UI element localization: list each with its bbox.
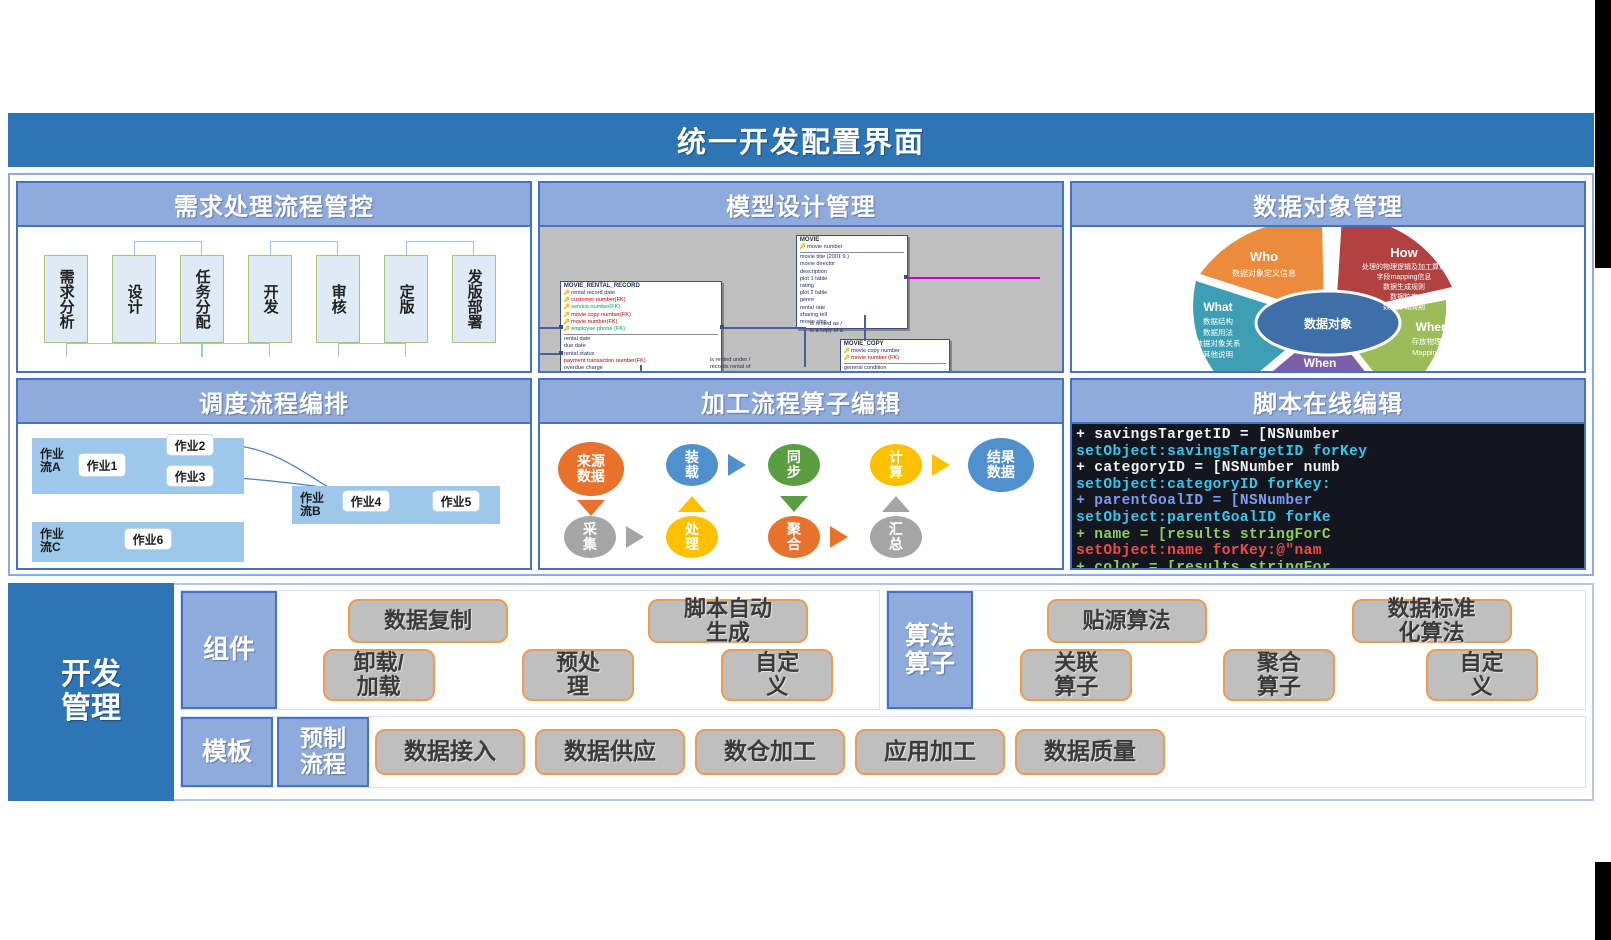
job-label: 作业1 (87, 457, 118, 474)
arrow-down-icon (780, 496, 808, 512)
flow-step-label: 开发 (262, 284, 277, 314)
er-relationship-line (722, 327, 806, 329)
job-label: 作业3 (175, 468, 206, 485)
chip-data-standardization-algorithm[interactable]: 数据标准 化算法 (1352, 599, 1512, 643)
flow-step-label: 定版 (398, 284, 413, 314)
chip-script-auto-generation[interactable]: 脚本自动 生成 (648, 599, 808, 643)
code-line: + savingsTargetID = [NSNumber (1076, 427, 1584, 444)
flow-step-4[interactable]: 开发 (248, 255, 292, 343)
operator-label: 处 理 (685, 522, 699, 551)
category-template[interactable]: 模板 (181, 717, 273, 787)
schedule-job-6[interactable]: 作业6 (124, 528, 172, 550)
panel-body: 需求分析 设计 任务分配 开发 审核 定版 发版部署 (18, 227, 530, 371)
pie-svg: 数据对象 Who 数据对象定义信息 What 数据结构 数据用法 数据对象关系 (1088, 227, 1568, 371)
panel-header: 需求处理流程管控 (18, 183, 530, 227)
panel-body: 来源 数据 采 集 装 载 处 理 同 步 聚 合 (540, 424, 1062, 568)
requirement-flow-diagram: 需求分析 设计 任务分配 开发 审核 定版 发版部署 (18, 227, 530, 371)
panel-title: 加工流程算子编辑 (701, 384, 901, 419)
operator-label: 采 集 (583, 522, 597, 551)
flow-step-label: 任务分配 (194, 269, 209, 329)
category-components[interactable]: 组件 (181, 591, 277, 709)
arrow-up-icon (678, 496, 706, 512)
flow-connector (270, 241, 338, 255)
flow-step-label: 发版部署 (466, 269, 481, 329)
er-row: rating (800, 283, 904, 290)
er-row: payment transaction number(FK) (564, 358, 718, 365)
chip-join-operator[interactable]: 关联 算子 (1020, 649, 1132, 701)
panel-header: 数据对象管理 (1072, 183, 1584, 227)
arrow-right-icon (626, 526, 644, 548)
er-note-line: records rental of (710, 364, 750, 370)
schedule-job-5[interactable]: 作业5 (432, 490, 480, 512)
er-row: movie number (800, 244, 904, 251)
upper-panels-frame: 需求处理流程管控 需求分析 设计 任务分配 开发 审核 定版 发版部署 (8, 173, 1594, 576)
operator-label: 同 步 (787, 450, 801, 479)
panel-title: 模型设计管理 (726, 187, 876, 222)
panel-body: 作业流A 作业1 作业2 作业3 作业流B 作业4 作业5 作业流C (18, 424, 530, 568)
flow-step-1[interactable]: 需求分析 (44, 255, 88, 343)
er-row: movie title (2001 9.) (800, 254, 904, 261)
flow-connector (66, 343, 202, 357)
components-and-algorithms-row: 组件 数据复制 脚本自动 生成 卸载/ 加载 预处 理 自定 义 (180, 590, 1586, 710)
operator-compute[interactable]: 计 算 (870, 444, 922, 486)
operator-label: 汇 总 (889, 522, 903, 551)
pie-center-label: 数据对象 (1304, 316, 1352, 331)
pie-sublabel: Mapping关系 (1412, 347, 1456, 357)
development-management-title: 开发 管理 (61, 658, 121, 727)
code-line: setObject:name forKey:@"nam (1076, 543, 1584, 560)
panel-title: 脚本在线编辑 (1253, 384, 1403, 419)
schedule-group-label: 作业流B (300, 492, 324, 517)
chip-warehouse-processing[interactable]: 数仓加工 (695, 729, 845, 775)
panel-body: + savingsTargetID = [NSNumber setObject:… (1072, 424, 1584, 568)
pie-label-what: What (1203, 300, 1232, 314)
pie-sublabel: 数据生成规则 (1383, 282, 1425, 291)
code-editor[interactable]: + savingsTargetID = [NSNumber setObject:… (1072, 424, 1584, 568)
pie-sublabel: 数据用法 (1203, 327, 1233, 337)
operator-label: 来源 数据 (577, 454, 605, 483)
er-relationship-line-highlight (908, 277, 1040, 279)
er-endpoint (559, 351, 563, 355)
operator-flow-diagram: 来源 数据 采 集 装 载 处 理 同 步 聚 合 (540, 424, 1062, 568)
schedule-job-3[interactable]: 作业3 (166, 465, 214, 487)
chip-data-supply[interactable]: 数据供应 (535, 729, 685, 775)
code-line: setObject:savingsTargetID forKey (1076, 444, 1584, 461)
er-table-title: MOVIE_COPY (841, 340, 949, 347)
operator-load[interactable]: 装 载 (666, 444, 718, 486)
er-table-title: MOVIE (797, 236, 907, 243)
er-divider (844, 363, 946, 364)
arrow-down-icon (577, 500, 605, 516)
flow-connector (338, 343, 406, 357)
operator-label: 结果 数据 (987, 450, 1015, 479)
er-row: genre (800, 297, 904, 304)
flow-connector (406, 241, 474, 255)
flow-step-6[interactable]: 定版 (384, 255, 428, 343)
flow-step-label: 审核 (330, 284, 345, 314)
er-note: is rented under / records rental of (710, 357, 750, 371)
pie-label-who: Who (1250, 249, 1278, 264)
er-relationship-line (640, 365, 642, 371)
job-label: 作业2 (175, 437, 206, 454)
er-row: movie copy number(FK) (564, 312, 718, 319)
schedule-job-4[interactable]: 作业4 (342, 490, 390, 512)
schedule-job-2[interactable]: 作业2 (166, 434, 214, 456)
er-row: rental rate (800, 305, 904, 312)
operator-label: 装 载 (685, 450, 699, 479)
er-note-line: is rented as / (810, 321, 842, 327)
panel-title: 数据对象管理 (1253, 187, 1403, 222)
er-relationship-line (864, 315, 866, 341)
chip-data-quality[interactable]: 数据质量 (1015, 729, 1165, 775)
arrow-right-icon (728, 454, 746, 476)
development-management-title-tile: 开发 管理 (8, 583, 174, 801)
er-row: general condition (844, 365, 946, 371)
title-line-1: 开发 (61, 658, 121, 691)
flow-step-7[interactable]: 发版部署 (452, 255, 496, 343)
panel-title: 需求处理流程管控 (174, 187, 374, 222)
flow-step-3[interactable]: 任务分配 (180, 255, 224, 343)
components-block: 组件 数据复制 脚本自动 生成 卸载/ 加载 预处 理 自定 义 (180, 590, 880, 710)
operator-result[interactable]: 结果 数据 (968, 438, 1034, 492)
er-divider (564, 334, 718, 335)
pie-sublabel: 数据对象关系 (1196, 338, 1241, 348)
category-algorithm-operators[interactable]: 算法 算子 (887, 591, 973, 709)
pie-sublabel: 存放物理位置 (1412, 336, 1457, 346)
page-title-bar: 统一开发配置界面 (8, 113, 1594, 167)
flow-connector (134, 241, 202, 255)
chip-unload-load[interactable]: 卸载/ 加载 (323, 649, 435, 701)
er-divider (800, 252, 904, 253)
er-note-line: is rented under / (710, 357, 750, 363)
five-w-one-h-chart: 数据对象 Who 数据对象定义信息 What 数据结构 数据用法 数据对象关系 (1072, 227, 1584, 371)
schedule-group-label: 作业流C (40, 528, 64, 553)
templates-row: 模板 预制 流程 数据接入 数据供应 数仓加工 应用加工 数据质量 (180, 716, 1586, 788)
arrow-right-icon (932, 454, 950, 476)
page-edge-bottom (1595, 862, 1611, 940)
code-line: + color = [results stringFor (1076, 560, 1584, 568)
code-line: setObject:categoryID forKey: (1076, 477, 1584, 494)
flow-step-label: 设计 (126, 284, 141, 314)
pie-sublabel: 数据存储周期 (1383, 302, 1425, 311)
panel-header: 加工流程算子编辑 (540, 380, 1062, 424)
schedule-diagram: 作业流A 作业1 作业2 作业3 作业流B 作业4 作业5 作业流C (18, 424, 530, 568)
chip-custom-component[interactable]: 自定 义 (721, 649, 833, 701)
panel-operator-editor[interactable]: 加工流程算子编辑 来源 数据 采 集 装 载 处 理 同 步 (538, 378, 1064, 570)
panel-data-object[interactable]: 数据对象管理 (1070, 181, 1586, 373)
er-row: plot 1 table (800, 276, 904, 283)
er-endpoint (720, 325, 724, 329)
er-row: sharing tell (800, 312, 904, 319)
chip-preprocess[interactable]: 预处 理 (522, 649, 634, 701)
job-label: 作业5 (441, 493, 472, 510)
panel-body: MOVIE_RENTAL_RECORD rental record date c… (540, 227, 1062, 371)
chip-data-ingestion[interactable]: 数据接入 (375, 729, 525, 775)
panel-model-design[interactable]: 模型设计管理 MOVIE_RENTAL_RECORD rental record… (538, 181, 1064, 373)
pie-sublabel: 字段mapping信息 (1377, 272, 1432, 281)
chip-application-processing[interactable]: 应用加工 (855, 729, 1005, 775)
algorithms-block: 算法 算子 贴源算法 数据标准 化算法 关联 算子 聚合 算子 自定 义 (886, 590, 1586, 710)
pie-label-when: When (1304, 356, 1337, 370)
er-row: service number(FK) (564, 304, 718, 311)
panel-header: 调度流程编排 (18, 380, 530, 424)
category-prebuilt-flow[interactable]: 预制 流程 (277, 717, 369, 787)
panel-title: 调度流程编排 (199, 384, 349, 419)
development-management-section: 开发 管理 组件 数据复制 脚本自动 生成 卸载/ (8, 583, 1594, 801)
er-row: employee phone (FK) (564, 326, 718, 333)
operator-source[interactable]: 来源 数据 (558, 442, 624, 496)
er-table-movie-copy[interactable]: MOVIE_COPY movie copy number movie numbe… (840, 339, 950, 371)
er-note-line: is a copy of a (810, 328, 843, 334)
pie-label-where: Where (1416, 320, 1453, 334)
er-relationship-line (804, 327, 806, 367)
operator-summary[interactable]: 汇 总 (870, 516, 922, 558)
panel-row-2: 调度流程编排 作业流A (16, 378, 1586, 570)
code-line: + parentGoalID = [NSNumber (1076, 493, 1584, 510)
pie-sublabel: 其他说明 (1203, 349, 1233, 359)
job-label: 作业4 (351, 493, 382, 510)
er-endpoint (559, 325, 563, 329)
pie-sublabel: 数据对象定义信息 (1232, 268, 1296, 278)
code-line: + name = [results stringForC (1076, 527, 1584, 544)
template-chip-list: 数据接入 数据供应 数仓加工 应用加工 数据质量 (369, 717, 1585, 787)
title-line-2: 管理 (61, 692, 121, 725)
operator-sync[interactable]: 同 步 (768, 444, 820, 486)
panel-body: 数据对象 Who 数据对象定义信息 What 数据结构 数据用法 数据对象关系 (1072, 227, 1584, 371)
er-row: movie number(FK) (564, 319, 718, 326)
er-endpoint (904, 275, 908, 279)
panel-script-editor[interactable]: 脚本在线编辑 + savingsTargetID = [NSNumber set… (1070, 378, 1586, 570)
arrow-up-icon (882, 496, 910, 512)
schedule-job-1[interactable]: 作业1 (78, 453, 126, 477)
page-title: 统一开发配置界面 (677, 119, 925, 161)
chip-custom-operator[interactable]: 自定 义 (1426, 649, 1538, 701)
er-row: movie director (800, 261, 904, 268)
er-key-rows: movie number movie title (2001 9.) movie… (797, 243, 907, 328)
templates-block: 模板 预制 流程 数据接入 数据供应 数仓加工 应用加工 数据质量 (180, 716, 1586, 788)
operator-label: 计 算 (889, 450, 903, 479)
flow-connector (202, 343, 270, 357)
er-row: movie number (FK) (844, 355, 946, 362)
er-key-rows: movie copy number movie number (FK) gene… (841, 347, 949, 371)
code-line: setObject:parentGoalID forKe (1076, 510, 1584, 527)
page-edge-top (1595, 0, 1611, 268)
development-management-body: 组件 数据复制 脚本自动 生成 卸载/ 加载 预处 理 自定 义 (174, 583, 1594, 801)
panel-header: 模型设计管理 (540, 183, 1062, 227)
job-label: 作业6 (133, 531, 164, 548)
panel-schedule-orchestration[interactable]: 调度流程编排 作业流A (16, 378, 532, 570)
er-note: is rented as / is a copy of a (810, 321, 843, 335)
er-table-movie-rental-record[interactable]: MOVIE_RENTAL_RECORD rental record date c… (560, 281, 722, 371)
flow-step-2[interactable]: 设计 (112, 255, 156, 343)
er-row: description (800, 269, 904, 276)
panel-row-1: 需求处理流程管控 需求分析 设计 任务分配 开发 审核 定版 发版部署 (16, 181, 1586, 373)
er-key-rows: rental record date customer number(FK) s… (561, 289, 721, 371)
chip-data-replication[interactable]: 数据复制 (348, 599, 508, 643)
arrow-right-icon (830, 526, 848, 548)
slide-page: 统一开发配置界面 需求处理流程管控 需求分析 设计 任务分配 开发 (0, 0, 1611, 940)
architecture-board: 统一开发配置界面 需求处理流程管控 需求分析 设计 任务分配 开发 (8, 113, 1594, 819)
chip-aggregate-operator[interactable]: 聚合 算子 (1223, 649, 1335, 701)
operator-merge[interactable]: 聚 合 (768, 516, 820, 558)
operator-label: 聚 合 (787, 522, 801, 551)
flow-step-5[interactable]: 审核 (316, 255, 360, 343)
er-row: due date (564, 343, 718, 350)
components-chip-list: 数据复制 脚本自动 生成 卸载/ 加载 预处 理 自定 义 (277, 591, 879, 709)
er-row: plot 2 table (800, 290, 904, 297)
pie-sublabel: 处理的物理逻辑及加工算法 (1362, 262, 1446, 271)
panel-header: 脚本在线编辑 (1072, 380, 1584, 424)
schedule-group-label: 作业流A (40, 448, 64, 473)
flow-step-label: 需求分析 (58, 269, 73, 329)
er-row: rental date (564, 336, 718, 343)
panel-requirement-flow[interactable]: 需求处理流程管控 需求分析 设计 任务分配 开发 审核 定版 发版部署 (16, 181, 532, 373)
operator-process[interactable]: 处 理 (666, 516, 718, 558)
er-table-movie[interactable]: MOVIE movie number movie title (2001 9.)… (796, 235, 908, 329)
operator-collect[interactable]: 采 集 (564, 516, 616, 558)
er-row: rental status (564, 351, 718, 358)
code-line: + categoryID = [NSNumber numb (1076, 460, 1584, 477)
pie-label-how: How (1390, 245, 1418, 260)
pie-sublabel: 数据粒度 (1390, 292, 1418, 301)
algorithm-chip-list: 贴源算法 数据标准 化算法 关联 算子 聚合 算子 自定 义 (973, 591, 1585, 709)
er-diagram: MOVIE_RENTAL_RECORD rental record date c… (540, 227, 1062, 371)
pie-sublabel: 数据结构 (1203, 316, 1233, 326)
er-table-title: MOVIE_RENTAL_RECORD (561, 282, 721, 289)
chip-source-aligned-algorithm[interactable]: 贴源算法 (1047, 599, 1207, 643)
